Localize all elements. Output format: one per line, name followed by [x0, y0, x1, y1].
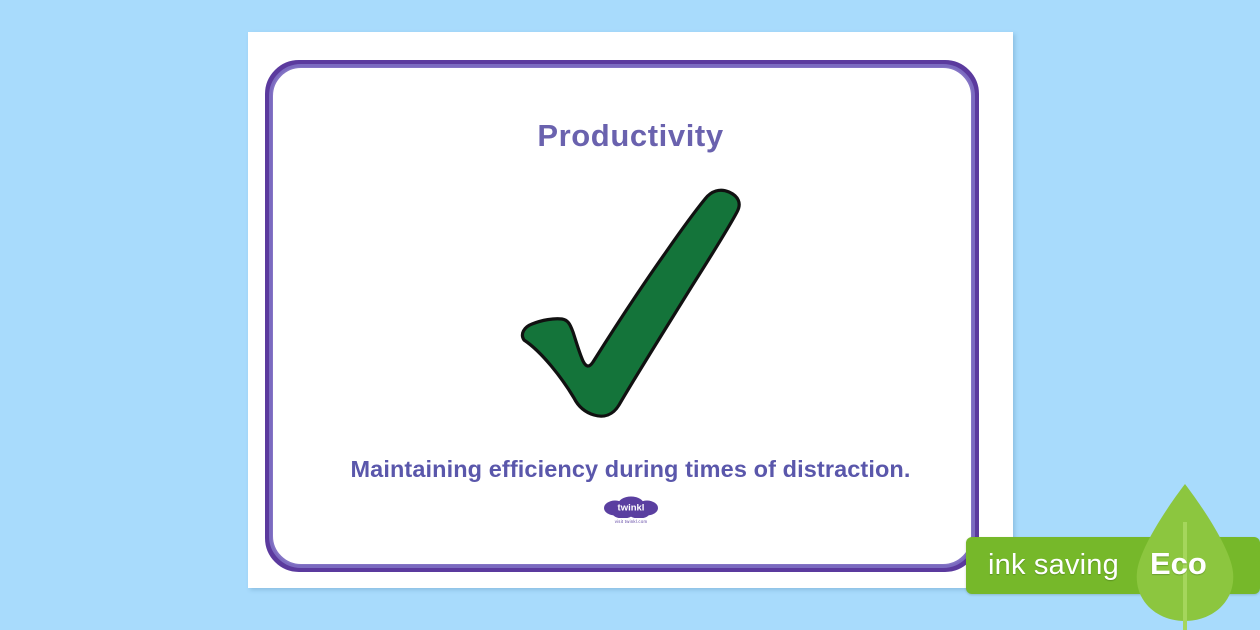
page-title: Productivity [248, 118, 1013, 154]
twinkl-url: visit twinkl.com [593, 519, 668, 524]
ink-saving-label: ink saving [988, 549, 1119, 582]
twinkl-logo: twinkl visit twinkl.com [594, 496, 668, 524]
poster-subtitle: Maintaining efficiency during times of d… [248, 456, 1013, 483]
green-check-mark-icon [506, 172, 756, 422]
ink-saving-eco-badge: ink saving Eco [966, 537, 1260, 594]
twinkl-cloud-icon: twinkl [600, 496, 662, 518]
eco-label: Eco [1150, 546, 1207, 582]
poster-page: Productivity Maintaining efficiency duri… [248, 32, 1013, 588]
twinkl-wordmark: twinkl [617, 503, 644, 514]
